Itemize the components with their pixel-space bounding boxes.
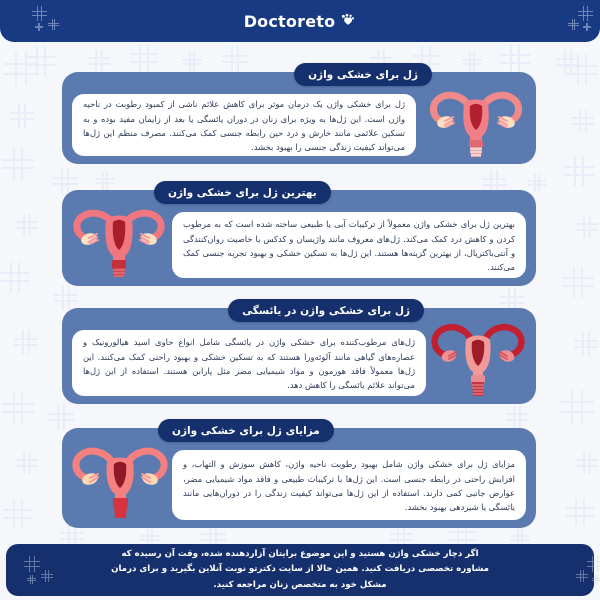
card-best-gel-for-vaginal-dryness: بهترین ژل برای خشکی واژن معمولاً از ترکی… — [62, 190, 536, 286]
uterus-anatomy-pink-icon — [422, 84, 530, 158]
card-text-box: بهترین ژل برای خشکی واژن معمولاً از ترکی… — [172, 212, 526, 278]
card-title-pill: مزایای ژل برای خشکی واژن — [158, 419, 334, 442]
brand-name: Doctoreto — [244, 12, 336, 31]
footer-message: اگر دچار خشکی واژن هستید و این موضوع برا… — [106, 547, 494, 592]
card-text-box: ژل‌های مرطوب‌کننده برای خشکی واژن در یائ… — [72, 330, 426, 396]
uterus-anatomy-salmon-icon — [68, 440, 172, 520]
card-body-text: ژل‌های مرطوب‌کننده برای خشکی واژن در یائ… — [83, 335, 415, 393]
site-header: Doctoreto — [0, 0, 600, 42]
call-to-action-footer: اگر دچار خشکی واژن هستید و این موضوع برا… — [6, 544, 594, 596]
card-text-box: ژل برای خشکی واژن یک درمان موثر برای کاه… — [72, 94, 416, 156]
card-title: مزایای ژل برای خشکی واژن — [172, 425, 320, 437]
card-title: بهترین ژل برای خشکی واژن — [168, 187, 317, 199]
card-text-box: مزایای ژل برای خشکی واژن شامل بهبود رطوب… — [172, 450, 526, 520]
card-body-text: ژل برای خشکی واژن یک درمان موثر برای کاه… — [83, 97, 405, 155]
card-title-pill: بهترین ژل برای خشکی واژن — [154, 181, 331, 204]
card-title: ژل برای خشکی واژن در یائسگی — [242, 305, 410, 317]
card-title-pill: ژل برای خشکی واژن — [294, 63, 432, 86]
infographic-page: Doctoreto ژل برای خشکی واژن یک درمان موث… — [0, 0, 600, 600]
card-gel-for-vaginal-dryness: ژل برای خشکی واژن یک درمان موثر برای کاه… — [62, 72, 536, 164]
brand-logo[interactable]: Doctoreto — [244, 12, 357, 31]
uterus-anatomy-red-icon — [68, 202, 170, 278]
uterus-anatomy-outline-icon — [426, 318, 530, 398]
card-body-text: بهترین ژل برای خشکی واژن معمولاً از ترکی… — [183, 217, 515, 275]
card-body-text: مزایای ژل برای خشکی واژن شامل بهبود رطوب… — [183, 457, 515, 515]
card-benefits-of-gel-for-vaginal-dryness: مزایای ژل برای خشکی واژن شامل بهبود رطوب… — [62, 428, 536, 528]
hand-heart-icon — [340, 13, 356, 29]
card-gel-for-vaginal-dryness-in-menopause: ژل‌های مرطوب‌کننده برای خشکی واژن در یائ… — [62, 308, 536, 404]
card-title: ژل برای خشکی واژن — [308, 69, 418, 81]
card-title-pill: ژل برای خشکی واژن در یائسگی — [228, 299, 424, 322]
